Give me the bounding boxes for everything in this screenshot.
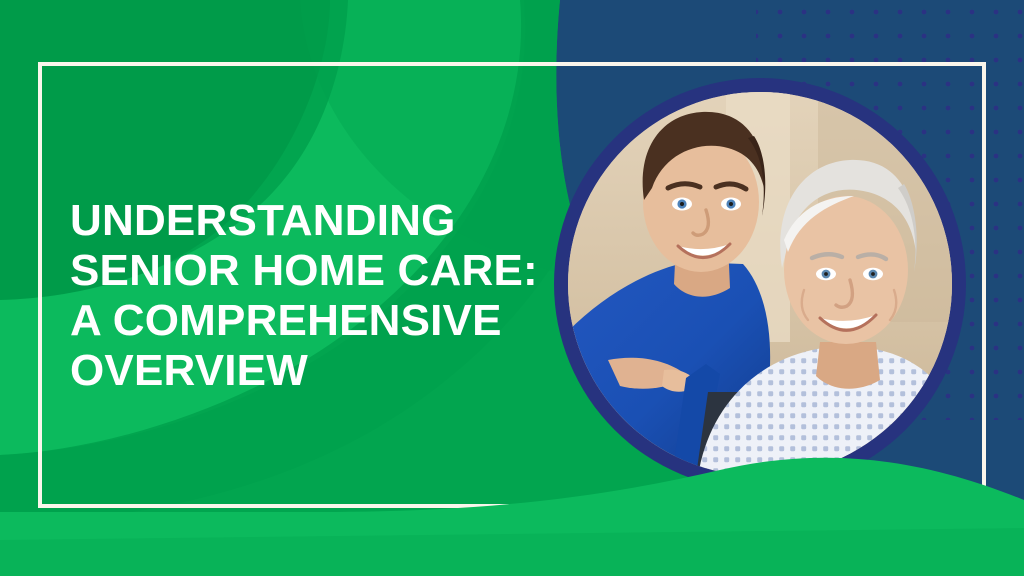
banner-graphic: UNDERSTANDING SENIOR HOME CARE: A COMPRE… bbox=[0, 0, 1024, 576]
bottom-green-wave-layer bbox=[0, 0, 1024, 576]
